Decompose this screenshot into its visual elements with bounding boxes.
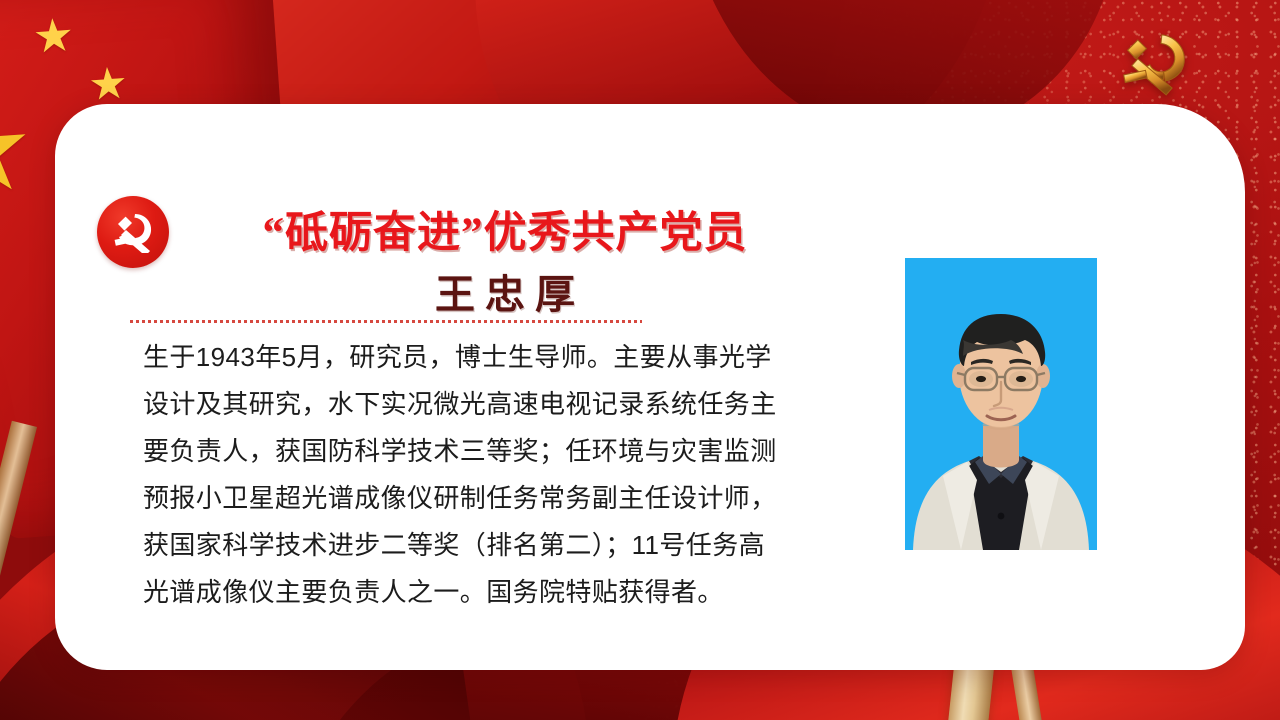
cpc-hammer-sickle-emblem-icon <box>1112 28 1198 100</box>
profile-card: “砥砺奋进”优秀共产党员 王忠厚 生于1943年5月，研究员，博士生导师。主要从… <box>55 104 1245 670</box>
person-name: 王忠厚 <box>205 262 805 320</box>
bio-line: 生于1943年5月，研究员，博士生导师。主要从事光学 <box>143 334 843 381</box>
bio-line: 要负责人，获国防科学技术三等奖；任环境与灾害监测 <box>143 428 843 475</box>
presentation-slide: “砥砺奋进”优秀共产党员 王忠厚 生于1943年5月，研究员，博士生导师。主要从… <box>0 0 1280 720</box>
bio-line: 设计及其研究，水下实况微光高速电视记录系统任务主 <box>143 381 843 428</box>
portrait-photo <box>905 258 1097 550</box>
biography-text: 生于1943年5月，研究员，博士生导师。主要从事光学 设计及其研究，水下实况微光… <box>143 334 843 616</box>
flag-star-2 <box>87 61 129 108</box>
bio-line: 获国家科学技术进步二等奖（排名第二）；11号任务高 <box>143 522 843 569</box>
bio-line: 光谱成像仪主要负责人之一。国务院特贴获得者。 <box>143 569 843 616</box>
cpc-party-badge-icon <box>97 196 169 268</box>
bio-line: 预报小卫星超光谱成像仪研制任务常务副主任设计师， <box>143 475 843 522</box>
page-title: “砥砺奋进”优秀共产党员 <box>205 198 805 260</box>
dotted-divider <box>130 320 642 323</box>
flag-star-large <box>0 86 38 213</box>
flag-star-1 <box>31 11 75 60</box>
